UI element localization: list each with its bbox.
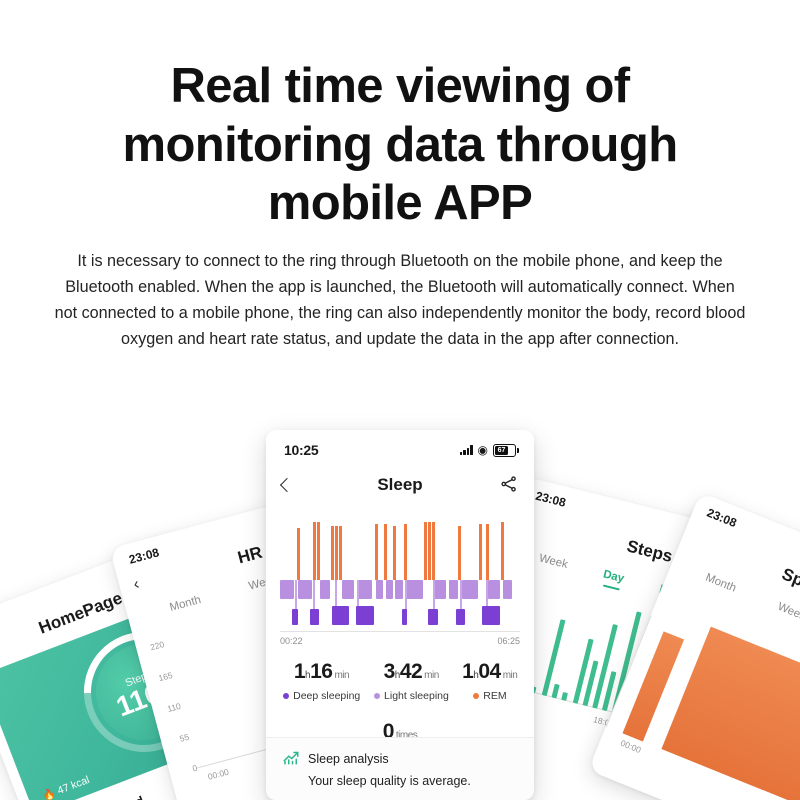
steps-status-time: 23:08 [534,489,567,510]
status-icons: ◉ 67 [460,444,516,457]
hr-ytick-110: 110 [166,701,182,714]
phone-cards-fan: 10:25 ➤ HomePage Steps 1162 ⚑ 10000 🔥 47… [0,418,800,800]
light-sleep-block [280,580,294,599]
rem-tick [313,522,316,580]
sleep-stats-row: 1h16min Deep sleeping 3h42min Light slee… [266,660,534,702]
rem-tick [297,528,300,580]
rem-tick [335,526,338,580]
tab-week[interactable]: Week [538,552,569,571]
hr-ytick-165: 165 [157,670,173,683]
rem-tick [384,524,387,580]
rem-tick [458,526,461,580]
tab-month[interactable]: Month [168,594,202,614]
rem-tick [428,522,431,580]
light-sleep-block [358,580,372,599]
deep-label: Deep sleeping [293,690,360,702]
rem-tick [339,526,342,580]
card-sleep[interactable]: 10:25 ◉ 67 Sleep [266,430,534,800]
page-paragraph: It is necessary to connect to the ring t… [52,249,748,353]
deep-sleep-block [332,606,349,625]
light-sleep-block [376,580,383,599]
rem-tick [404,524,407,580]
light-sleep-block [406,580,423,599]
deep-hours: 1 [294,660,305,683]
battery-level: 67 [498,447,506,454]
signal-icon [460,445,473,455]
hr-ytick-55: 55 [178,732,190,744]
sleep-status-bar: 10:25 ◉ 67 [266,430,534,458]
light-sleep-block [320,580,330,599]
kcal-value: 47 kcal [56,773,91,796]
light-sleep-block [449,580,458,599]
stage-link [313,580,315,612]
deep-sleep-block [402,609,407,625]
deep-minutes: 16 [310,660,332,683]
rem-tick [393,526,396,580]
sleep-status-time: 10:25 [284,442,318,458]
legend-dot-deep [283,693,290,700]
rem-tick [501,522,504,580]
deep-sleep-block [292,609,298,625]
spo2-status-time: 23:08 [705,506,739,530]
stage-link [433,580,435,612]
legend-dot-rem [473,693,480,700]
sleep-time-axis: 00:22 06:25 [280,631,520,646]
rem-tick [331,526,334,580]
light-sleep-block [488,580,500,599]
rem-tick [479,524,482,580]
minute-unit: min [503,670,518,681]
back-icon[interactable]: ‹ [132,576,142,595]
deep-sleep-block [428,609,438,625]
deep-sleep-block [482,606,500,625]
light-sleep-block [386,580,393,599]
stat-light-sleeping: 3h42min Light sleeping [374,660,449,702]
tab-month[interactable]: Month [704,572,738,595]
light-sleep-block [298,580,312,599]
stat-rem: 1h04min REM [462,660,517,702]
sleep-end-time: 06:25 [497,636,520,646]
light-sleep-block [462,580,478,599]
sleep-header: Sleep [266,472,534,498]
sleep-analysis-title: Sleep analysis [308,752,389,766]
minute-unit: min [424,670,439,681]
sleep-start-time: 00:22 [280,636,303,646]
light-sleep-block [434,580,446,599]
hr-title: HR [236,543,265,569]
legend-dot-light [374,693,381,700]
sleep-stage-chart [280,520,520,625]
light-sleep-block [395,580,403,599]
deep-sleep-block [356,606,374,625]
stat-deep-sleeping: 1h16min Deep sleeping [283,660,361,702]
page-headline: Real time viewing of monitoring data thr… [60,57,740,233]
sleep-analysis-panel[interactable]: Sleep analysis Your sleep quality is ave… [266,737,534,800]
deep-sleep-block [310,609,319,625]
rem-tick [317,522,320,580]
sleep-analysis-text: Your sleep quality is average. [308,774,534,788]
light-minutes: 42 [400,660,422,683]
rem-hours: 1 [462,660,473,683]
spo2-bar [661,627,800,800]
kcal-readout: 🔥 47 kcal [40,773,91,800]
steps-title: Steps [625,536,675,566]
steps-bar [551,684,559,699]
deep-sleep-block [456,609,465,625]
chart-icon [282,748,300,769]
stage-link [405,580,407,612]
share-icon[interactable] [500,475,518,498]
light-label: Light sleeping [384,690,449,702]
minute-unit: min [334,670,349,681]
wifi-icon: ◉ [478,444,488,456]
marketing-page: Real time viewing of monitoring data thr… [0,0,800,800]
tab-day[interactable]: Day [602,568,625,585]
tab-week[interactable]: Week [776,601,800,623]
rem-tick [486,524,489,580]
battery-icon: 67 [493,444,516,457]
sleep-title: Sleep [266,472,534,498]
hr-xtick-0000: 00:00 [207,767,230,782]
light-sleep-block [342,580,354,599]
light-sleep-block [503,580,512,599]
rem-tick [424,522,427,580]
rem-tick [432,522,435,580]
axis-line [280,631,520,632]
hr-status-time: 23:08 [127,545,160,566]
light-hours: 3 [384,660,395,683]
flame-icon: 🔥 [40,786,57,800]
rem-minutes: 04 [478,660,500,683]
stage-link [295,580,297,612]
hr-ytick-220: 220 [149,639,165,652]
rem-tick [375,524,378,580]
stage-link [460,580,462,612]
rem-label: REM [483,690,506,702]
